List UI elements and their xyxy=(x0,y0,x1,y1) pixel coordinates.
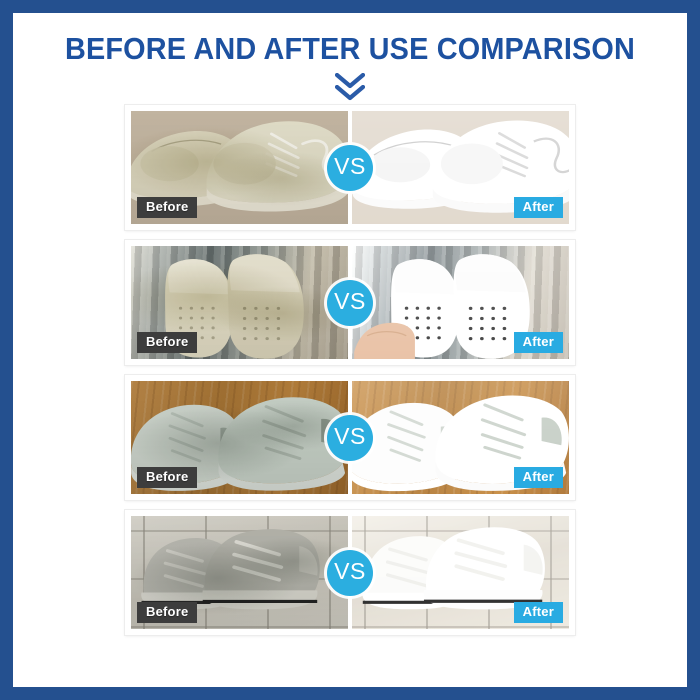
after-image: After xyxy=(352,111,569,224)
vs-badge: VS xyxy=(327,280,373,326)
comparison-row: Before xyxy=(125,510,575,635)
before-badge: Before xyxy=(137,602,197,623)
before-image: Before xyxy=(131,381,348,494)
vs-label: VS xyxy=(334,290,366,313)
after-image: After xyxy=(352,246,569,359)
before-badge: Before xyxy=(137,332,197,353)
vs-label: VS xyxy=(334,425,366,448)
comparison-row: Before xyxy=(125,105,575,230)
after-badge: After xyxy=(514,602,563,623)
after-badge: After xyxy=(514,332,563,353)
comparison-row: Before xyxy=(125,240,575,365)
after-image: After xyxy=(352,381,569,494)
page-title: BEFORE AND AFTER USE COMPARISON xyxy=(37,31,664,67)
before-image: Before xyxy=(131,111,348,224)
vs-label: VS xyxy=(334,560,366,583)
vs-label: VS xyxy=(334,155,366,178)
after-badge: After xyxy=(514,197,563,218)
comparison-list: Before xyxy=(13,105,687,645)
before-image: Before xyxy=(131,246,348,359)
after-image: After xyxy=(352,516,569,629)
before-badge: Before xyxy=(137,197,197,218)
vs-badge: VS xyxy=(327,550,373,596)
vs-badge: VS xyxy=(327,145,373,191)
vs-badge: VS xyxy=(327,415,373,461)
comparison-row: Before xyxy=(125,375,575,500)
after-badge: After xyxy=(514,467,563,488)
poster-frame: BEFORE AND AFTER USE COMPARISON xyxy=(13,13,687,687)
before-badge: Before xyxy=(137,467,197,488)
before-image: Before xyxy=(131,516,348,629)
double-chevron-down-icon xyxy=(13,73,687,101)
